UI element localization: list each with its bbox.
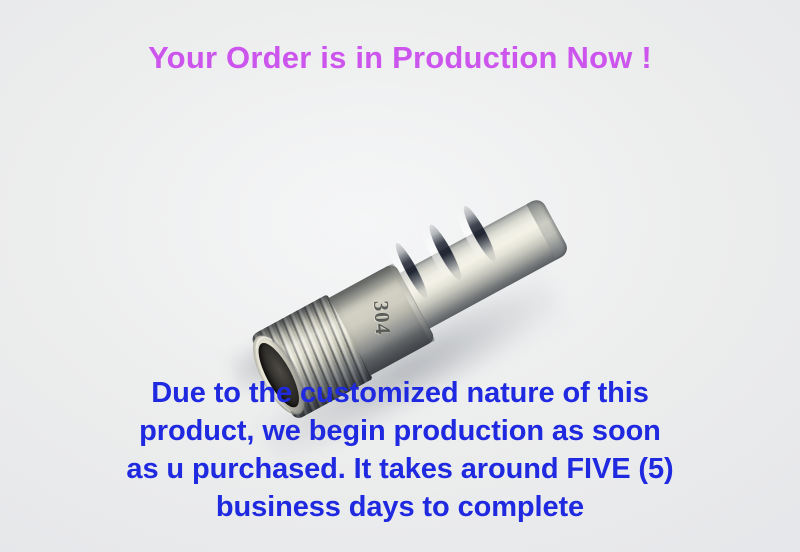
notice-line-3: as u purchased. It takes around FIVE (5) <box>0 450 800 488</box>
notice-line-4: business days to complete <box>0 488 800 526</box>
page-title: Your Order is in Production Now ! <box>0 40 800 76</box>
material-grade-stamp: 304 <box>352 293 413 342</box>
notice-line-1: Due to the customized nature of this <box>0 374 800 412</box>
production-notice: Due to the customized nature of this pro… <box>0 374 800 526</box>
product-photo: 304 <box>0 95 800 375</box>
material-grade-text: 304 <box>369 300 396 336</box>
notice-line-2: product, we begin production as soon <box>0 412 800 450</box>
promo-banner: Your Order is in Production Now ! 304 <box>0 0 800 552</box>
